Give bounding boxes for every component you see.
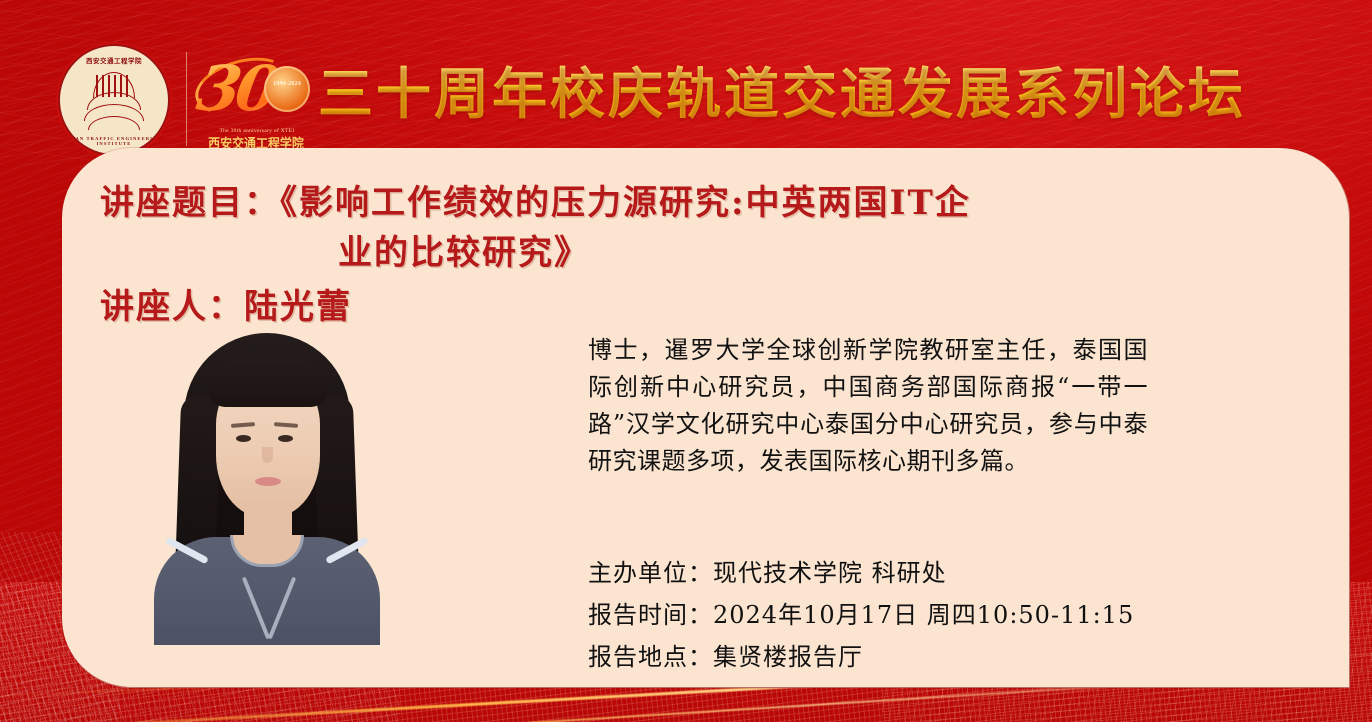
speaker-bio-block: 博士，暹罗大学全球创新学院教研室主任，泰国国际创新中心研究员，中国商务部国际商报… [588, 332, 1148, 480]
lecture-title-line-1: 讲座题目：《影响工作绩效的压力源研究:中英两国IT企 [100, 178, 1260, 228]
lecture-poster: 西安交通工程学院 XI'AN TRAFFIC ENGINEERING INSTI… [0, 0, 1372, 722]
forum-main-title: 三十周年校庆轨道交通发展系列论坛 [318, 55, 1246, 133]
lecture-heading-block: 讲座题目：《影响工作绩效的压力源研究:中英两国IT企 业的比较研究》 讲座人：陆… [100, 178, 1260, 332]
seal-english-name: XI'AN TRAFFIC ENGINEERING INSTITUTE [60, 136, 168, 146]
anniversary-years: 1994-2024 [264, 81, 310, 87]
lecture-title-line-2: 业的比较研究》 [100, 228, 1260, 278]
portrait-fringe [208, 359, 328, 407]
header-divider [186, 52, 187, 146]
poster-header: 西安交通工程学院 XI'AN TRAFFIC ENGINEERING INSTI… [0, 0, 1372, 152]
event-location: 报告地点：集贤楼报告厅 [588, 636, 1188, 678]
seal-chinese-name: 西安交通工程学院 [60, 55, 168, 65]
anniversary-seal-badge [264, 66, 310, 112]
portrait-eye-left [236, 435, 251, 442]
event-time: 报告时间：2024年10月17日 周四10:50-11:15 [588, 594, 1188, 636]
seal-arch-mark [83, 72, 145, 132]
speaker-portrait-photo [148, 325, 386, 645]
portrait-eye-right [278, 435, 293, 442]
anniversary-logo-icon: 30 1994-2024 The 30th anniversary of XTE… [196, 44, 316, 156]
event-info-block: 主办单位：现代技术学院 科研处 报告时间：2024年10月17日 周四10:50… [588, 552, 1188, 678]
university-seal-icon: 西安交通工程学院 XI'AN TRAFFIC ENGINEERING INSTI… [58, 44, 170, 156]
event-organizer: 主办单位：现代技术学院 科研处 [588, 552, 1188, 594]
portrait-mouth [255, 477, 281, 486]
portrait-nose [262, 447, 273, 463]
speaker-bio-text: 博士，暹罗大学全球创新学院教研室主任，泰国国际创新中心研究员，中国商务部国际商报… [588, 332, 1148, 480]
